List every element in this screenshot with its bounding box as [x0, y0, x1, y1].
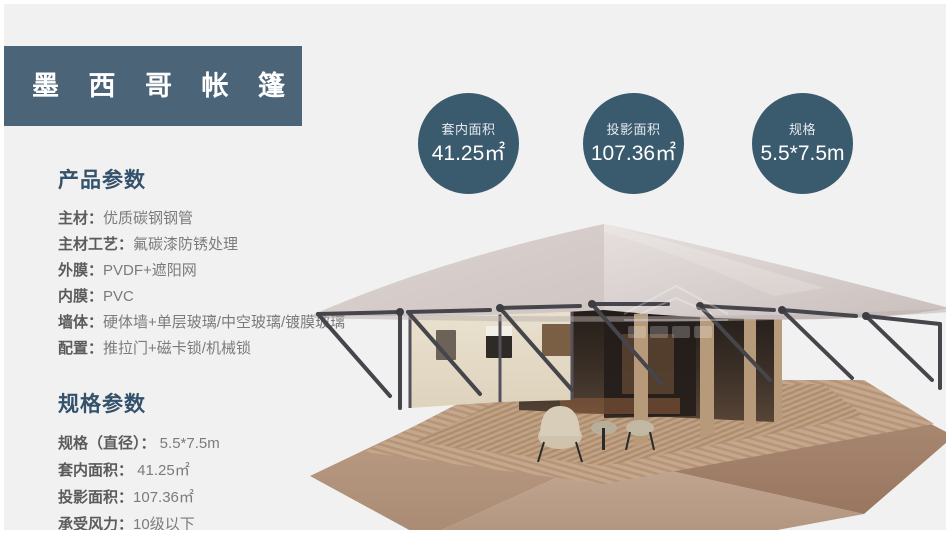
spec-label: 墙体：: [58, 314, 103, 331]
spec-label: 主材工艺：: [58, 236, 133, 253]
badge-label: 投影面积: [606, 123, 660, 136]
spec-label: 规格（直径）：: [58, 435, 156, 452]
spec-value: 107.36㎡: [133, 489, 194, 506]
spec-sheet-page: 墨 西 哥 帐 篷 产品参数 主材：优质碳钢钢管 主材工艺：氟碳漆防锈处理 外膜…: [0, 0, 950, 534]
spec-value: 41.25㎡: [133, 462, 190, 479]
spec-label: 配置：: [58, 340, 103, 357]
tent-render-illustration: [304, 184, 950, 534]
page-title: 墨 西 哥 帐 篷: [4, 73, 296, 100]
spec-label: 套内面积：: [58, 462, 133, 479]
spec-label: 外膜：: [58, 262, 103, 279]
badge-interior-area[interactable]: 套内面积 41.25㎡: [418, 93, 519, 194]
title-banner: 墨 西 哥 帐 篷: [4, 46, 302, 126]
spec-label: 内膜：: [58, 288, 103, 305]
spec-label: 承受风力：: [58, 516, 133, 533]
interior-rug: [560, 398, 680, 414]
spec-value: 5.5*7.5m: [156, 435, 220, 452]
spec-value: 10级以下: [133, 516, 195, 533]
badge-value: 41.25㎡: [432, 143, 506, 164]
badge-label: 规格: [789, 123, 816, 136]
badge-label: 套内面积: [441, 123, 495, 136]
canopy-roof-left: [314, 224, 604, 316]
window-c: [542, 324, 572, 356]
spec-value: PVDF+遮阳网: [103, 262, 197, 279]
badge-value: 5.5*7.5m: [760, 143, 844, 164]
spec-value: 氟碳漆防锈处理: [133, 236, 238, 253]
badge-value: 107.36㎡: [591, 143, 676, 164]
badge-dimensions[interactable]: 规格 5.5*7.5m: [752, 93, 853, 194]
spec-value: PVC: [103, 288, 134, 305]
spec-value: 优质碳钢钢管: [103, 210, 193, 227]
spec-label: 投影面积：: [58, 489, 133, 506]
badge-projected-area[interactable]: 投影面积 107.36㎡: [583, 93, 684, 194]
spec-label: 主材：: [58, 210, 103, 227]
spec-value: 推拉门+磁卡锁/机械锁: [103, 340, 251, 357]
